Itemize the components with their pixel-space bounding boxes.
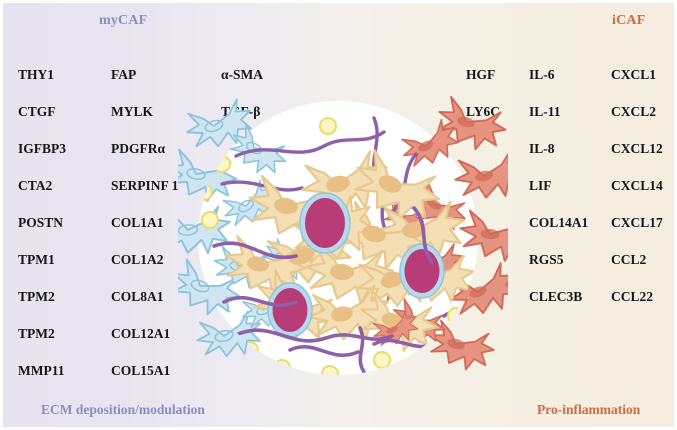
gene-label: IGFBP3: [18, 139, 66, 176]
gene-label: TPM2: [18, 287, 66, 324]
tumor-microenvironment-illustration: [178, 88, 508, 388]
gene-label: TPM2: [18, 324, 66, 361]
gene-label: MMP11: [18, 361, 66, 398]
gene-label: CCL22: [611, 287, 663, 324]
gene-label: TPM1: [18, 250, 66, 287]
gene-label: CXCL17: [611, 213, 663, 250]
gene-label: FAP: [111, 65, 178, 102]
icaf-heading: iCAF: [612, 13, 645, 29]
mycaf-marker-column-1: THY1 CTGF IGFBP3 CTA2 POSTN TPM1 TPM2 TP…: [18, 65, 66, 398]
gene-label: IL-6: [529, 65, 588, 102]
gene-label: PDGFRα: [111, 139, 178, 176]
gene-label: CCL2: [611, 250, 663, 287]
icaf-marker-column-2: IL-6 IL-11 IL-8 LIF COL14A1 RGS5 CLEC3B: [529, 65, 588, 324]
gene-label: RGS5: [529, 250, 588, 287]
cancer-associated-fibroblast-figure: myCAF iCAF THY1 CTGF IGFBP3 CTA2 POSTN T…: [0, 0, 677, 430]
gene-label: CTGF: [18, 102, 66, 139]
gene-label: SERPINF 1: [111, 176, 178, 213]
pro-inflammation-label: Pro-inflammation: [537, 402, 640, 418]
gene-label: COL15A1: [111, 361, 178, 398]
gene-label: CXCL2: [611, 102, 663, 139]
gene-label: THY1: [18, 65, 66, 102]
gene-label: IL-8: [529, 139, 588, 176]
gene-label: COL14A1: [529, 213, 588, 250]
gene-label: LIF: [529, 176, 588, 213]
gene-label: MYLK: [111, 102, 178, 139]
gene-label: IL-11: [529, 102, 588, 139]
gene-label: COL8A1: [111, 287, 178, 324]
ecm-deposition-label: ECM deposition/modulation: [41, 402, 205, 418]
immune-cell: [268, 283, 312, 337]
mycaf-heading: myCAF: [99, 13, 147, 29]
gene-label: CLEC3B: [529, 287, 588, 324]
gene-label: CXCL12: [611, 139, 663, 176]
gene-label: CTA2: [18, 176, 66, 213]
gene-label: CXCL1: [611, 65, 663, 102]
gene-label: COL1A2: [111, 250, 178, 287]
immune-cell: [400, 244, 444, 298]
immune-cell: [300, 193, 350, 253]
gene-label: CXCL14: [611, 176, 663, 213]
gene-label: COL1A1: [111, 213, 178, 250]
icaf-marker-column-3: CXCL1 CXCL2 CXCL12 CXCL14 CXCL17 CCL2 CC…: [611, 65, 663, 324]
mycaf-marker-column-2: FAP MYLK PDGFRα SERPINF 1 COL1A1 COL1A2 …: [111, 65, 178, 398]
gene-label: POSTN: [18, 213, 66, 250]
gene-label: COL12A1: [111, 324, 178, 361]
